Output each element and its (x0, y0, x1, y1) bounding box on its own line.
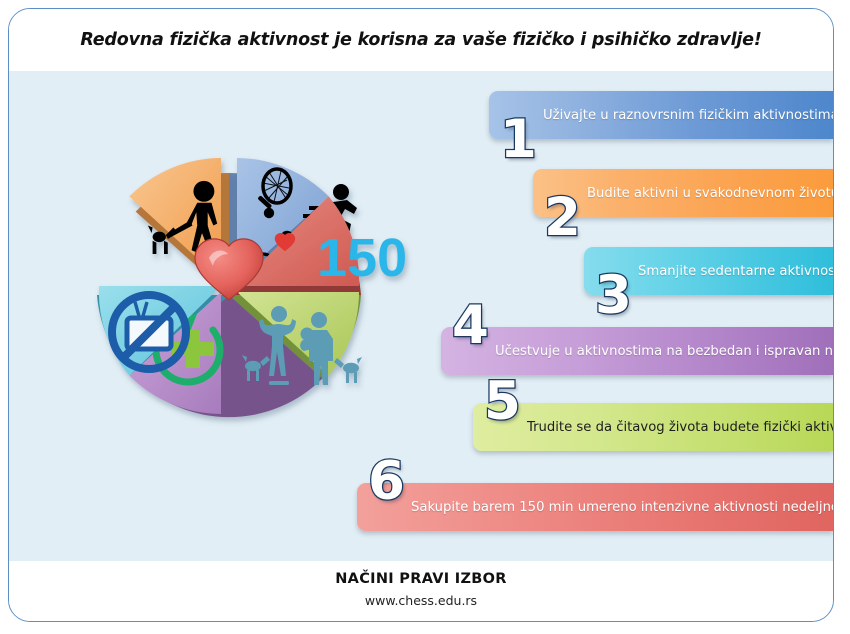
tip-label-2: Budite aktivni u svakodnevnom životu (533, 186, 833, 201)
tip-label-1: Uživajte u raznovrsnim fizičkim aktivnos… (489, 108, 833, 123)
tip-bar-1[interactable]: Uživajte u raznovrsnim fizičkim aktivnos… (489, 91, 833, 139)
tip-label-5: Trudite se da čitavog života budete fizi… (473, 420, 833, 435)
tip-row-3: Smanjite sedentarne aktivnosti 3 (584, 247, 833, 295)
tip-bar-5[interactable]: Trudite se da čitavog života budete fizi… (473, 403, 833, 451)
tip-label-3: Smanjite sedentarne aktivnosti (584, 264, 833, 279)
tip-bar-4[interactable]: Učestvuje u aktivnostima na bezbedan i i… (441, 327, 833, 375)
tip-row-5: Trudite se da čitavog života budete fizi… (473, 403, 833, 451)
tip-row-2: Budite aktivni u svakodnevnom životu 2 (533, 169, 833, 217)
tip-row-1: Uživajte u raznovrsnim fizičkim aktivnos… (489, 91, 833, 139)
footer-slogan: NAČINI PRAVI IZBOR (335, 571, 507, 587)
infographic-poster: Redovna fizička aktivnost je korisna za … (8, 8, 834, 622)
tip-label-6: Sakupite barem 150 min umereno intenzivn… (357, 500, 833, 515)
tip-bar-6[interactable]: Sakupite barem 150 min umereno intenzivn… (357, 483, 833, 531)
tip-bar-2[interactable]: Budite aktivni u svakodnevnom životu (533, 169, 833, 217)
header-bar: Redovna fizička aktivnost je korisna za … (9, 9, 833, 71)
footer-website: www.chess.edu.rs (365, 593, 477, 608)
tip-row-4: Učestvuje u aktivnostima na bezbedan i i… (441, 327, 833, 375)
tip-row-6: Sakupite barem 150 min umereno intenzivn… (357, 483, 833, 531)
footer-bar: NAČINI PRAVI IZBOR www.chess.edu.rs (9, 561, 833, 622)
tips-list: Uživajte u raznovrsnim fizičkim aktivnos… (9, 71, 833, 561)
main-stage: 150 (9, 71, 833, 561)
page-title: Redovna fizička aktivnost je korisna za … (80, 30, 761, 50)
tip-label-4: Učestvuje u aktivnostima na bezbedan i i… (441, 344, 833, 359)
tip-bar-3[interactable]: Smanjite sedentarne aktivnosti (584, 247, 833, 295)
